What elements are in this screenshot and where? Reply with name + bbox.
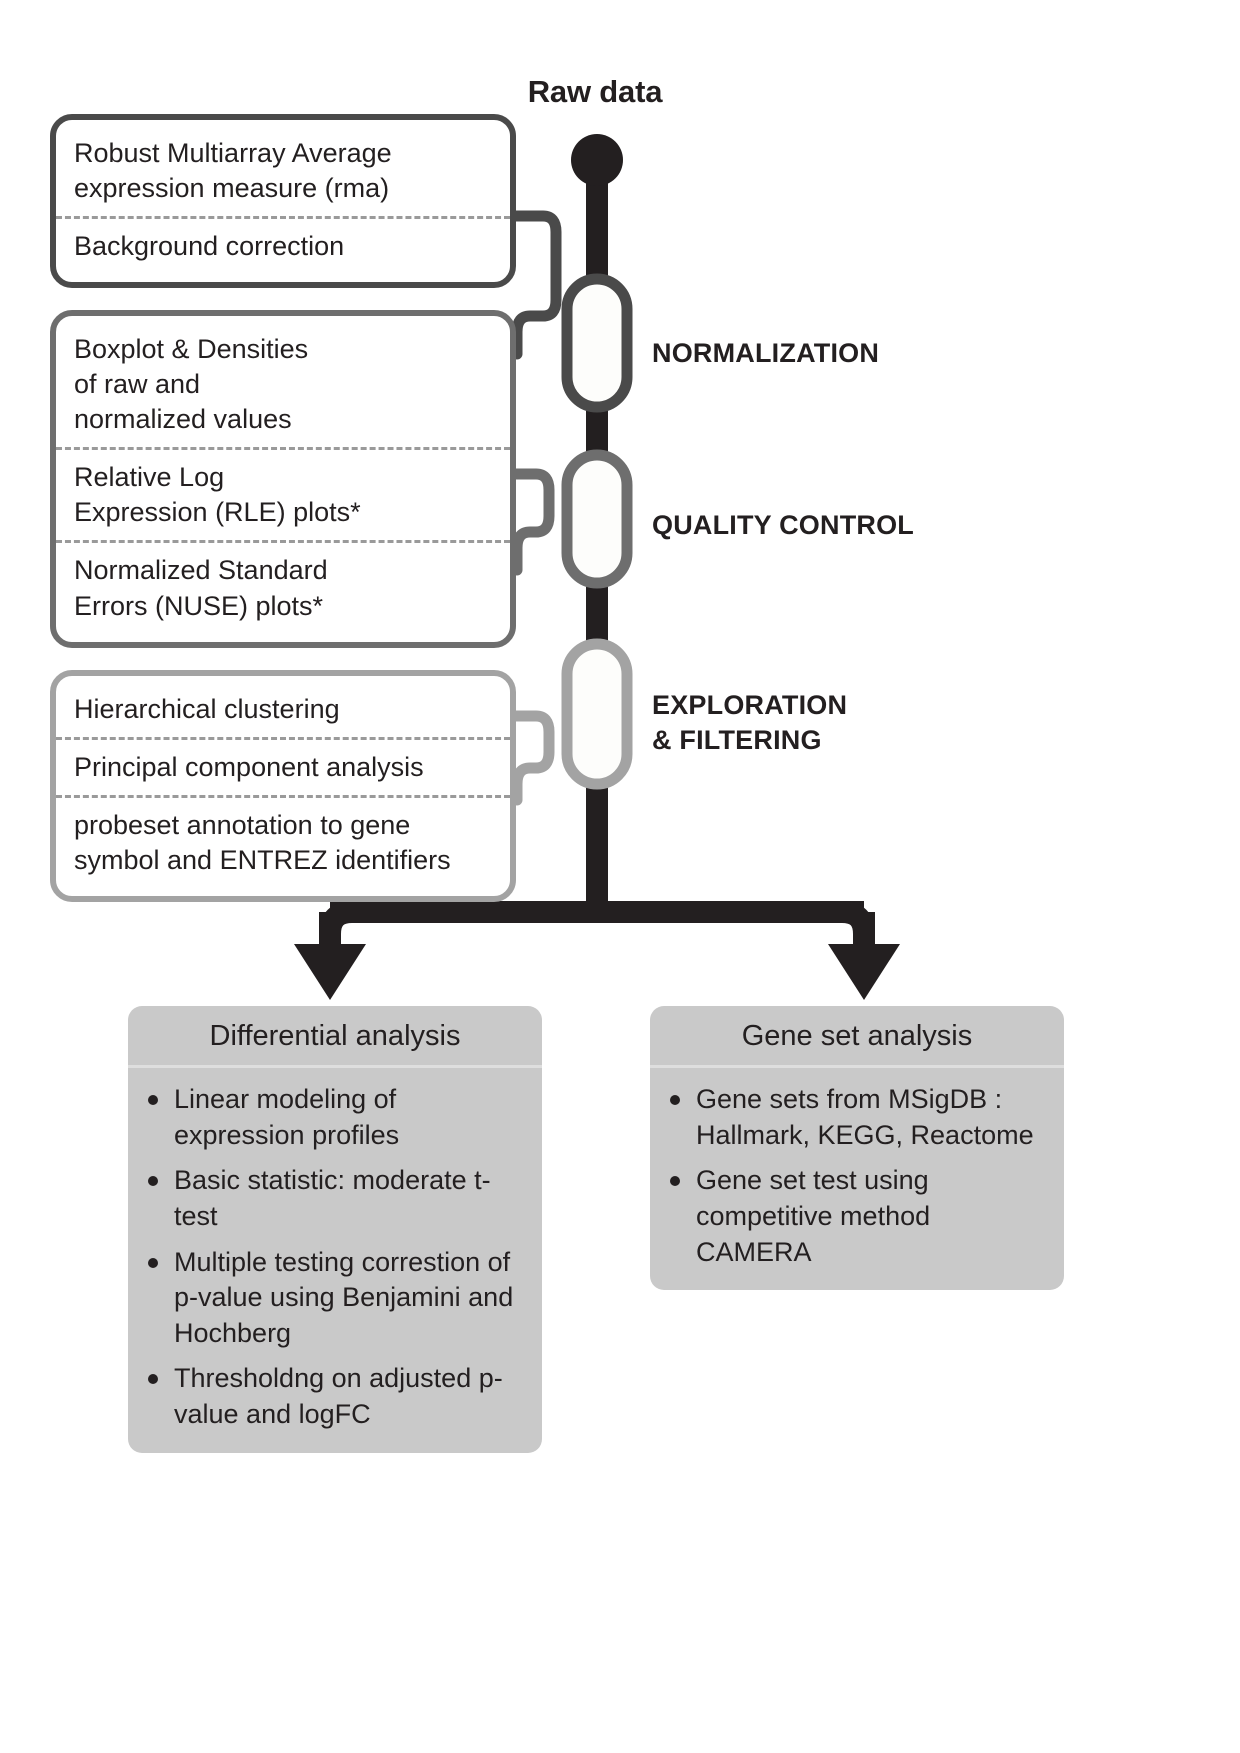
step-item-rle-plots: Relative Log Expression (RLE) plots*	[56, 447, 510, 540]
stage-label-normalization: NORMALIZATION	[652, 336, 879, 371]
list-item-label: Thresholdng on adjusted p-value and logF…	[174, 1363, 503, 1429]
spine-corner-right	[842, 912, 864, 934]
list-item: Basic statistic: moderate t-test	[146, 1163, 526, 1234]
step-card-exploration-filtering: Hierarchical clustering Principal compon…	[50, 670, 516, 902]
list-item: Gene set test using competitive method C…	[668, 1163, 1048, 1270]
connector-exploration	[516, 716, 549, 800]
bullet-dot-icon	[148, 1095, 158, 1105]
step-card-quality-control: Boxplot & Densities of raw and normalize…	[50, 310, 516, 648]
connector-quality	[516, 474, 549, 570]
stage-node-quality	[567, 455, 627, 583]
stage-node-normalization	[567, 279, 627, 407]
stage-label-quality-control: QUALITY CONTROL	[652, 508, 914, 543]
list-item: Gene sets from MSigDB : Hallmark, KEGG, …	[668, 1082, 1048, 1153]
step-item-hierarchical-clustering: Hierarchical clustering	[56, 682, 510, 737]
step-item-pca: Principal component analysis	[56, 737, 510, 795]
list-item-label: Linear modeling of expression profiles	[174, 1084, 399, 1150]
stage-label-exploration-filtering: EXPLORATION & FILTERING	[652, 688, 847, 758]
step-item-probeset-annotation: probeset annotation to gene symbol and E…	[56, 795, 510, 888]
bullet-dot-icon	[148, 1374, 158, 1384]
panel-title-differential-analysis: Differential analysis	[128, 1006, 542, 1068]
stage-node-exploration	[567, 644, 627, 784]
list-item: Multiple testing correstion of p-value u…	[146, 1245, 526, 1352]
output-panel-gene-set-analysis: Gene set analysis Gene sets from MSigDB …	[650, 1006, 1064, 1290]
arrow-head-geneset	[828, 944, 900, 1000]
raw-data-node	[571, 134, 623, 186]
bullet-dot-icon	[148, 1176, 158, 1186]
list-item-label: Gene sets from MSigDB : Hallmark, KEGG, …	[696, 1084, 1034, 1150]
panel-title-gene-set-analysis: Gene set analysis	[650, 1006, 1064, 1068]
bullet-dot-icon	[148, 1258, 158, 1268]
step-item-rma: Robust Multiarray Average expression mea…	[56, 126, 510, 216]
output-panel-differential-analysis: Differential analysis Linear modeling of…	[128, 1006, 542, 1453]
bullet-dot-icon	[670, 1176, 680, 1186]
spine-split-legs	[330, 912, 864, 960]
bullet-list-differential-analysis: Linear modeling of expression profiles B…	[128, 1068, 542, 1453]
step-item-background-correction: Background correction	[56, 216, 510, 274]
bullet-dot-icon	[670, 1095, 680, 1105]
raw-data-title: Raw data	[430, 74, 760, 110]
list-item-label: Gene set test using competitive method C…	[696, 1165, 930, 1266]
step-card-normalization: Robust Multiarray Average expression mea…	[50, 114, 516, 288]
list-item-label: Multiple testing correstion of p-value u…	[174, 1247, 513, 1348]
connector-normalization	[516, 216, 556, 354]
workflow-diagram: Raw data Robust Multiarray Average expre…	[0, 0, 1240, 1753]
list-item: Linear modeling of expression profiles	[146, 1082, 526, 1153]
bullet-list-gene-set-analysis: Gene sets from MSigDB : Hallmark, KEGG, …	[650, 1068, 1064, 1290]
step-item-nuse-plots: Normalized Standard Errors (NUSE) plots*	[56, 540, 510, 633]
step-item-boxplot-densities: Boxplot & Densities of raw and normalize…	[56, 322, 510, 447]
arrow-head-differential	[294, 944, 366, 1000]
list-item: Thresholdng on adjusted p-value and logF…	[146, 1361, 526, 1432]
spine-corner-left	[330, 912, 352, 934]
list-item-label: Basic statistic: moderate t-test	[174, 1165, 491, 1231]
